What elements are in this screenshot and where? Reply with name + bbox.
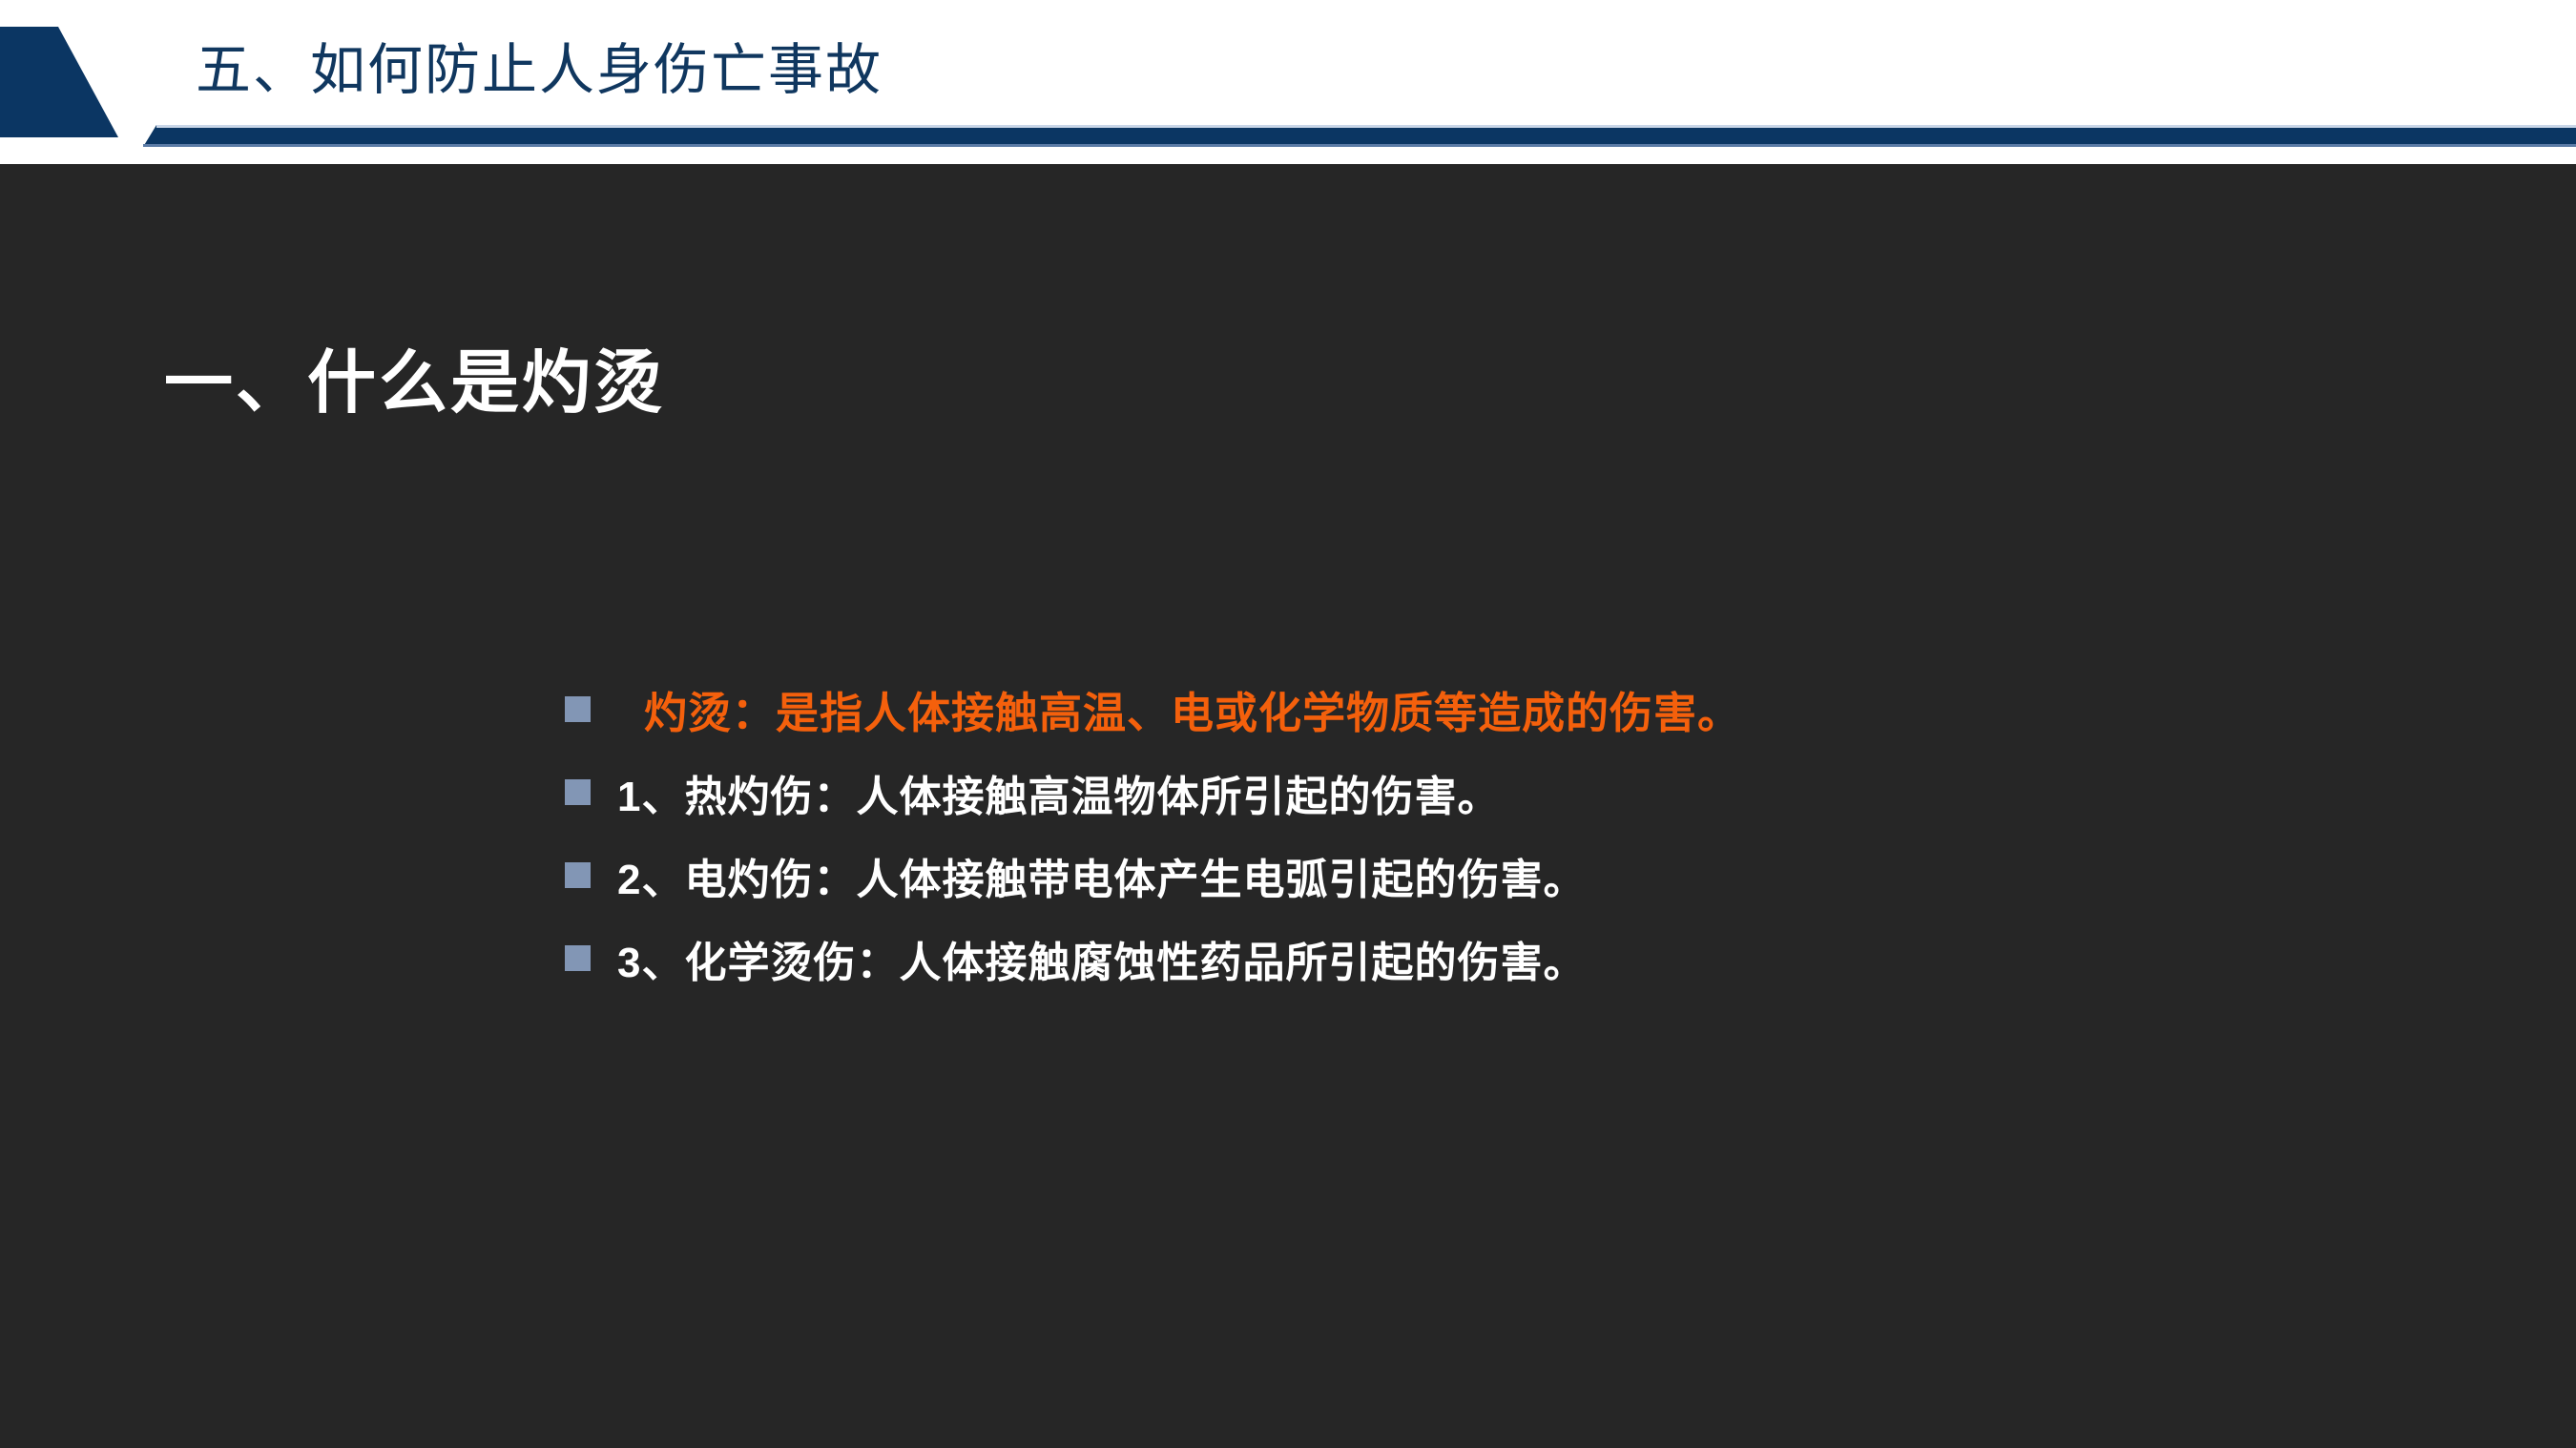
square-bullet-icon [565, 696, 591, 722]
trapezoid-shape-icon [0, 27, 118, 137]
list-item: 1、热灼伤：人体接触高温物体所引起的伤害。 [565, 751, 2473, 834]
section-heading: 一、什么是灼烫 [164, 326, 665, 426]
list-item-label: 1、热灼伤：人体接触高温物体所引起的伤害。 [617, 762, 1500, 823]
list-item-label: 3、化学烫伤：人体接触腐蚀性药品所引起的伤害。 [617, 928, 1586, 989]
list-item: 灼烫：是指人体接触高温、电或化学物质等造成的伤害。 [565, 668, 2473, 751]
presentation-slide: 五、如何防止人身伤亡事故 一、什么是灼烫 灼烫：是指人体接触高温、电或化学物质等… [0, 0, 2576, 1448]
square-bullet-icon [565, 862, 591, 888]
slide-header: 五、如何防止人身伤亡事故 [0, 0, 2576, 164]
list-item-label: 灼烫：是指人体接触高温、电或化学物质等造成的伤害。 [644, 678, 1741, 740]
list-item-label: 2、电灼伤：人体接触带电体产生电弧引起的伤害。 [617, 845, 1586, 906]
bullet-list: 灼烫：是指人体接触高温、电或化学物质等造成的伤害。 1、热灼伤：人体接触高温物体… [565, 668, 2473, 1000]
square-bullet-icon [565, 779, 591, 805]
list-item: 2、电灼伤：人体接触带电体产生电弧引起的伤害。 [565, 834, 2473, 917]
list-item: 3、化学烫伤：人体接触腐蚀性药品所引起的伤害。 [565, 917, 2473, 1000]
slanted-bar-shape-icon [143, 125, 2576, 147]
page-title: 五、如何防止人身伤亡事故 [196, 17, 883, 113]
square-bullet-icon [565, 945, 591, 971]
